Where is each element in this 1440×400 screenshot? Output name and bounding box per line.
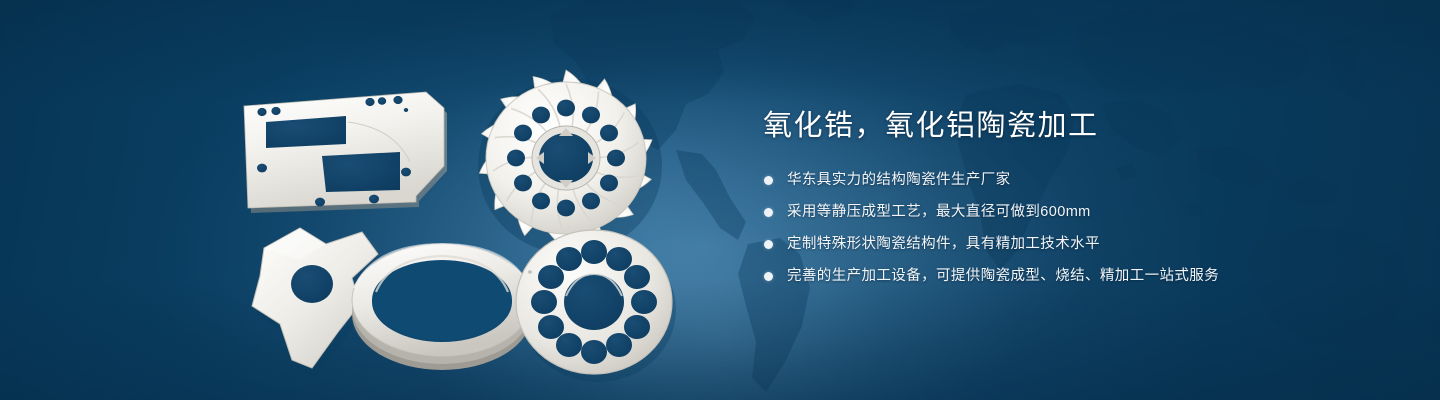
list-item: 华东具实力的结构陶瓷件生产厂家 xyxy=(763,170,1323,191)
banner-copy: 氧化锆，氧化铝陶瓷加工 华东具实力的结构陶瓷件生产厂家 采用等静压成型工艺，最大… xyxy=(763,106,1323,287)
ceramic-plate-with-cutouts xyxy=(244,92,447,213)
bullet-dot-icon xyxy=(764,240,773,249)
list-item-label: 华东具实力的结构陶瓷件生产厂家 xyxy=(787,172,1011,188)
ceramic-ring xyxy=(352,244,532,370)
ceramic-perforated-disc xyxy=(516,230,676,382)
bullet-dot-icon xyxy=(764,176,773,185)
bullet-dot-icon xyxy=(764,208,773,217)
ceramic-impeller-disc xyxy=(476,68,662,254)
feature-list: 华东具实力的结构陶瓷件生产厂家 采用等静压成型工艺，最大直径可做到600mm 定… xyxy=(763,170,1323,287)
hero-banner: 氧化锆，氧化铝陶瓷加工 华东具实力的结构陶瓷件生产厂家 采用等静压成型工艺，最大… xyxy=(0,0,1440,400)
list-item: 采用等静压成型工艺，最大直径可做到600mm xyxy=(763,202,1323,223)
bullet-dot-icon xyxy=(764,272,773,281)
list-item: 完善的生产加工设备，可提供陶瓷成型、烧结、精加工一站式服务 xyxy=(763,266,1323,287)
product-photo-cluster xyxy=(230,44,700,390)
list-item: 定制特殊形状陶瓷结构件，具有精加工技术水平 xyxy=(763,234,1323,255)
list-item-label: 采用等静压成型工艺，最大直径可做到600mm xyxy=(787,204,1091,220)
list-item-label: 定制特殊形状陶瓷结构件，具有精加工技术水平 xyxy=(787,236,1100,252)
list-item-label: 完善的生产加工设备，可提供陶瓷成型、烧结、精加工一站式服务 xyxy=(787,268,1219,284)
page-title: 氧化锆，氧化铝陶瓷加工 xyxy=(763,106,1323,146)
